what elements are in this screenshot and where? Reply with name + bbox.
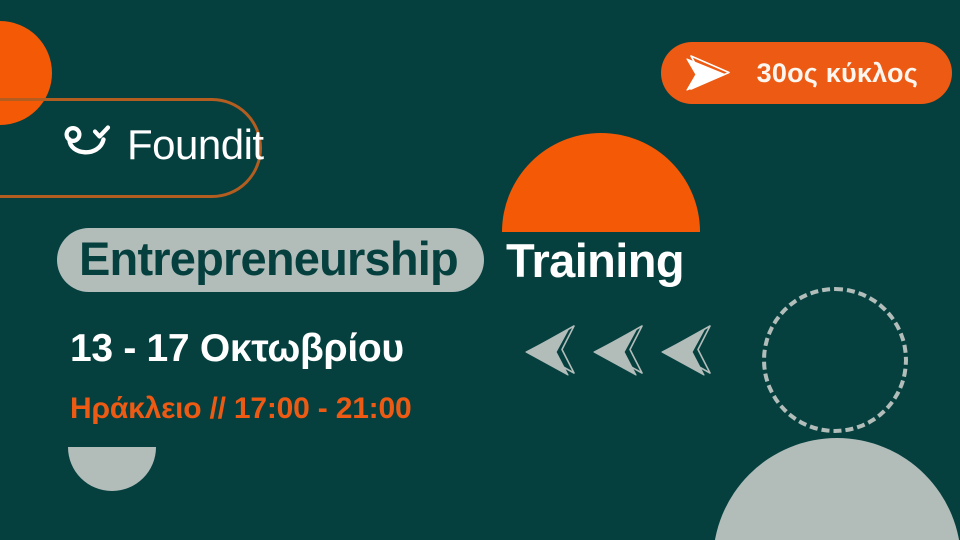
double-arrow-right-icon (685, 53, 741, 93)
foundit-smile-mark-icon (62, 122, 114, 167)
dashed-circle-shape (762, 287, 908, 433)
page-title: Entrepreneurship Training (57, 228, 684, 292)
orange-half-circle-shape (502, 133, 700, 232)
headline-plain-word: Training (506, 236, 684, 285)
cycle-badge-label: 30ος κύκλος (757, 58, 918, 89)
brand-logo[interactable]: Foundit (62, 122, 264, 167)
cycle-badge[interactable]: 30ος κύκλος (661, 42, 952, 104)
grey-half-circle-shape (68, 447, 156, 491)
event-dates: 13 - 17 Οκτωβρίου (70, 327, 404, 371)
event-venue-time: Ηράκλειο // 17:00 - 21:00 (70, 392, 411, 426)
brand-wordmark: Foundit (127, 124, 264, 166)
promo-poster: 30ος κύκλος Foundit Entrepreneurship Tra… (0, 0, 960, 540)
grey-circle-shape (713, 438, 960, 540)
triple-chevron-left-icon (518, 322, 716, 378)
headline-highlighted-word: Entrepreneurship (79, 232, 458, 285)
headline-highlight-pill: Entrepreneurship (57, 228, 484, 292)
